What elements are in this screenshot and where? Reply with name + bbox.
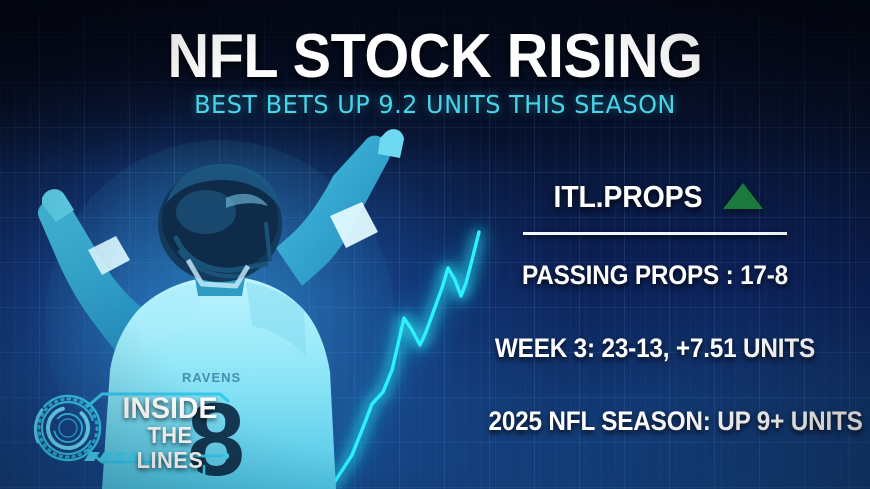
- graphic-canvas: RAVENS 8 NFL STOCK RISING BEST BETS UP 9…: [0, 0, 870, 489]
- vignette-overlay: [0, 0, 870, 489]
